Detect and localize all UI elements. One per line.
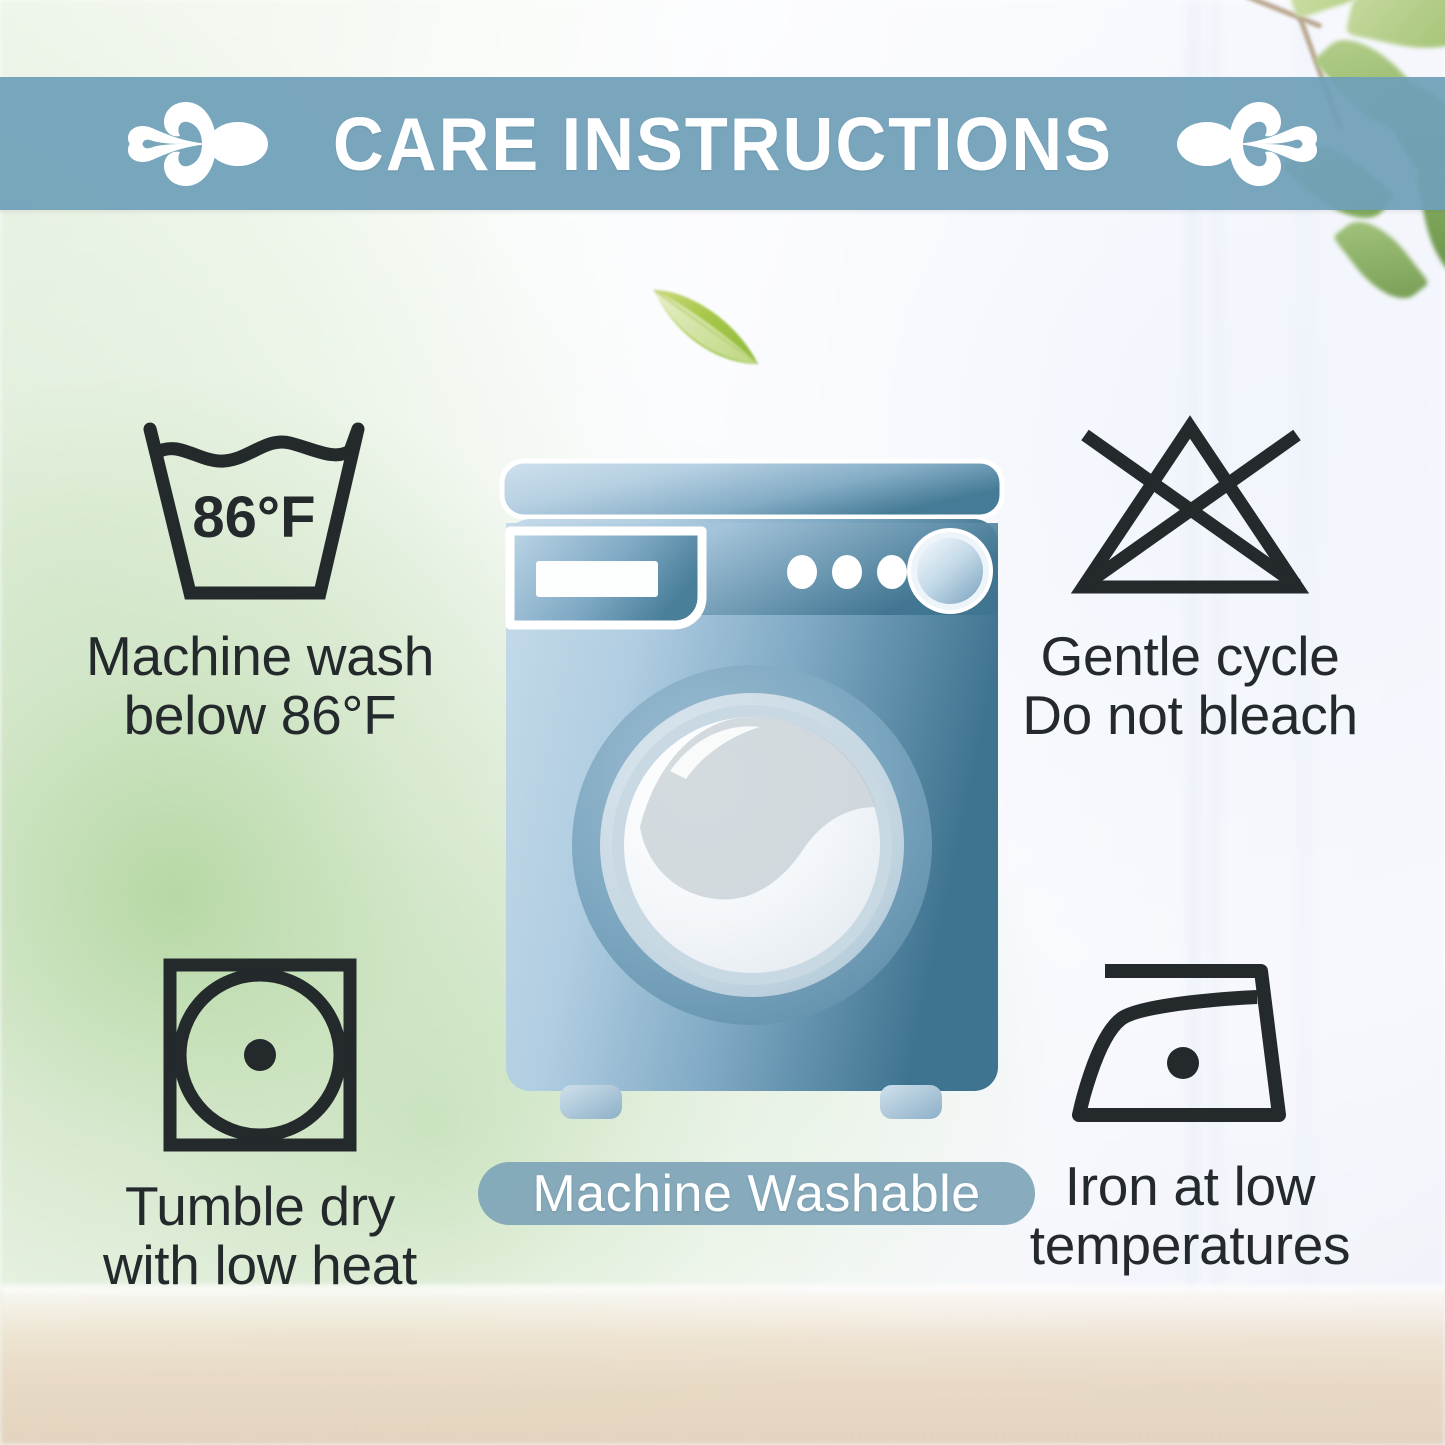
care-item-tumble-dry: Tumble dry with low heat <box>20 955 500 1296</box>
machine-top-lid <box>502 461 1002 517</box>
control-dial-knob[interactable] <box>909 530 991 612</box>
indicator-light <box>832 555 862 589</box>
care-item-label: Tumble dry with low heat <box>20 1177 500 1296</box>
wash-temperature-value: 86°F <box>192 485 315 550</box>
triangle-crossed-icon <box>1065 415 1315 605</box>
iron-one-dot-icon <box>1065 955 1315 1135</box>
badge-label: Machine Washable <box>532 1164 980 1224</box>
tumble-dry-low-icon <box>160 955 360 1155</box>
washing-machine-illustration <box>480 455 1020 1140</box>
machine-washable-badge: Machine Washable <box>478 1162 1035 1225</box>
care-item-label: Machine wash below 86°F <box>20 627 500 746</box>
detergent-drawer <box>510 531 702 625</box>
indicator-light <box>877 555 907 589</box>
indicator-light <box>787 555 817 589</box>
indicator-lights <box>787 555 907 589</box>
machine-foot <box>560 1085 622 1119</box>
machine-foot <box>880 1085 942 1119</box>
drawer-slot <box>536 561 658 597</box>
care-item-machine-wash: 86°F Machine wash below 86°F <box>20 415 500 746</box>
wash-tub-icon: 86°F <box>138 415 383 605</box>
machine-door <box>572 665 932 1025</box>
